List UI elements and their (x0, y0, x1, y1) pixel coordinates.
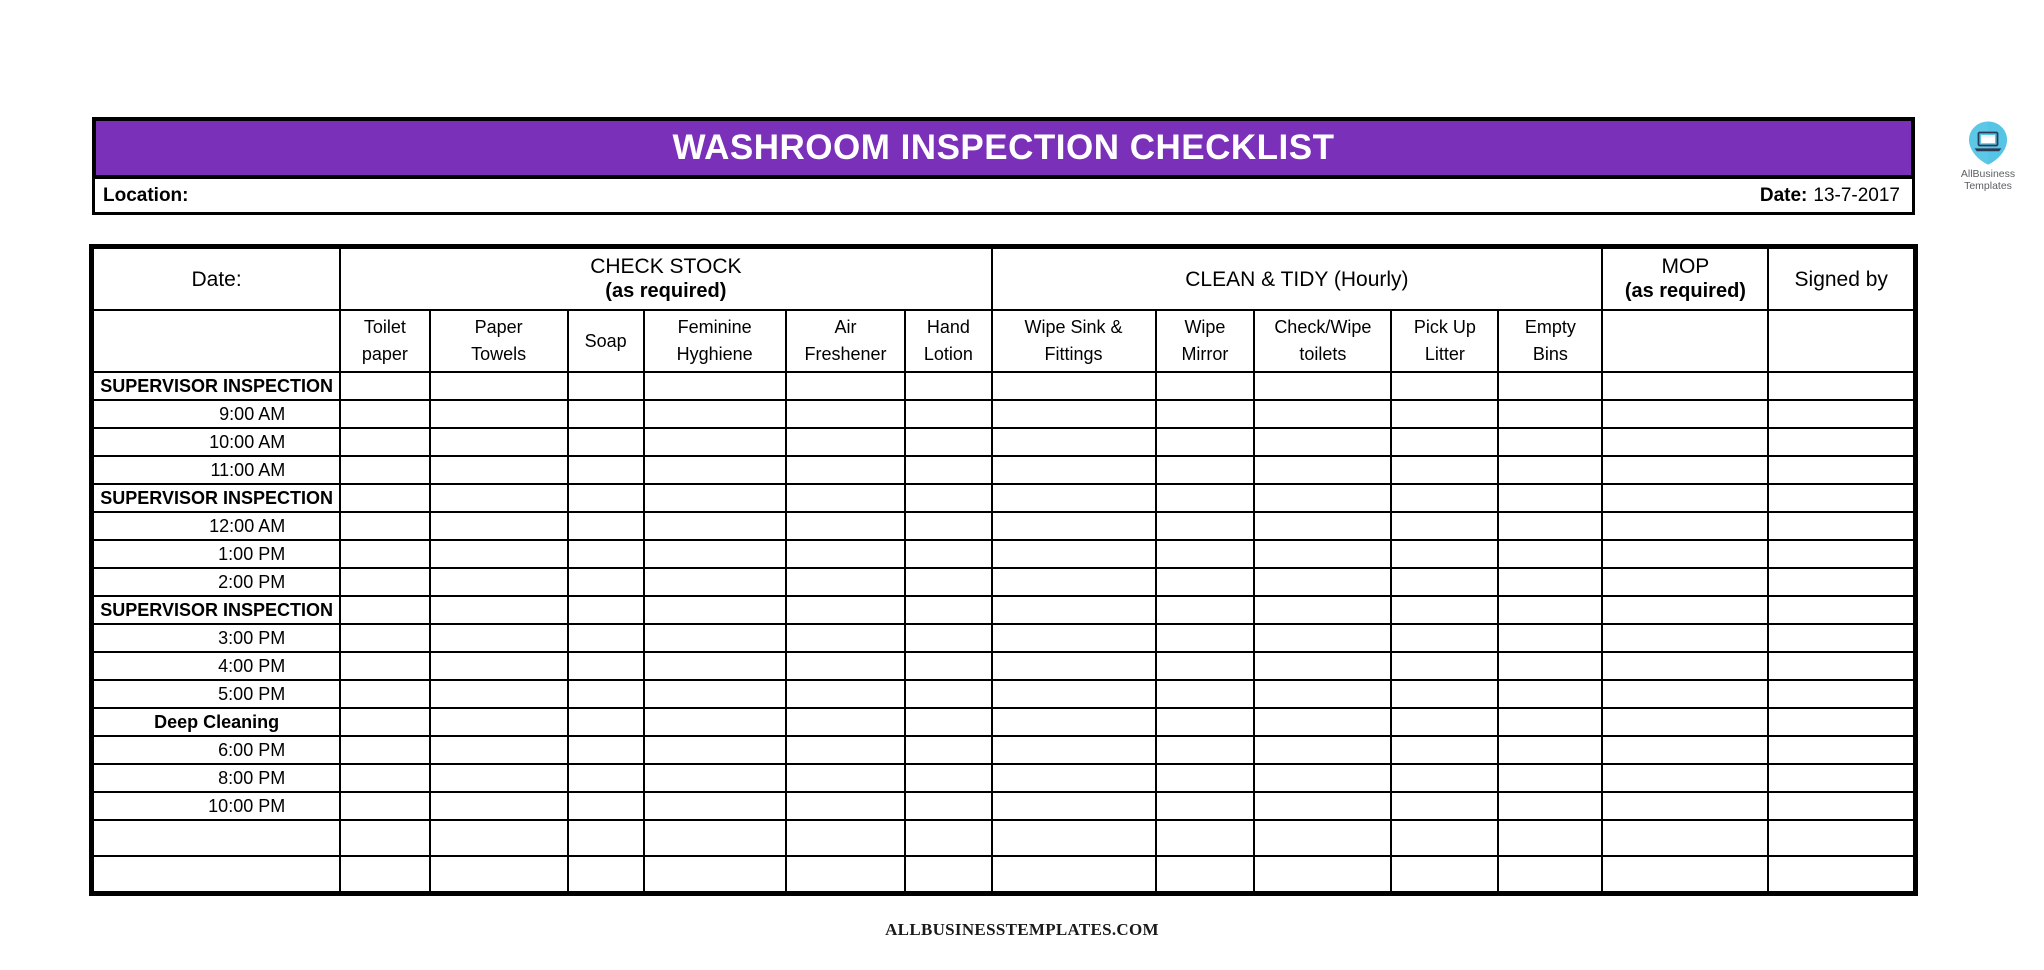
checklist-cell[interactable] (340, 792, 429, 820)
checklist-cell[interactable] (340, 512, 429, 540)
checklist-cell[interactable] (905, 680, 991, 708)
checklist-cell[interactable] (340, 736, 429, 764)
checklist-cell[interactable] (1498, 856, 1602, 892)
checklist-cell[interactable] (1156, 484, 1255, 512)
checklist-cell[interactable] (992, 428, 1156, 456)
checklist-cell[interactable] (1156, 736, 1255, 764)
checklist-cell[interactable] (1498, 568, 1602, 596)
checklist-cell[interactable] (644, 400, 786, 428)
checklist-cell[interactable] (1254, 400, 1391, 428)
checklist-cell[interactable] (644, 568, 786, 596)
checklist-cell[interactable] (1254, 764, 1391, 792)
checklist-cell[interactable] (568, 736, 644, 764)
checklist-cell[interactable] (1254, 456, 1391, 484)
column-header-signed-by (1768, 310, 1914, 372)
checklist-cell[interactable] (430, 428, 568, 456)
checklist-cell[interactable] (905, 856, 991, 892)
checklist-cell[interactable] (1156, 820, 1255, 856)
checklist-cell[interactable] (905, 372, 991, 400)
checklist-cell[interactable] (905, 708, 991, 736)
checklist-cell[interactable] (1498, 764, 1602, 792)
checklist-cell[interactable] (568, 428, 644, 456)
checklist-cell[interactable] (1254, 372, 1391, 400)
table-row: 5:00 PM (93, 680, 1914, 708)
checklist-cell[interactable] (1602, 764, 1768, 792)
checklist-cell[interactable] (786, 792, 905, 820)
checklist-cell[interactable] (1391, 372, 1498, 400)
checklist-cell[interactable] (1498, 400, 1602, 428)
checklist-cell[interactable] (992, 708, 1156, 736)
checklist-cell[interactable] (1156, 792, 1255, 820)
checklist-cell[interactable] (1498, 792, 1602, 820)
table-head: Date: CHECK STOCK (as required) CLEAN & … (93, 248, 1914, 372)
checklist-cell[interactable] (1391, 764, 1498, 792)
checklist-cell[interactable] (1498, 820, 1602, 856)
checklist-cell[interactable] (1391, 708, 1498, 736)
checklist-cell[interactable] (340, 484, 429, 512)
checklist-cell[interactable] (430, 456, 568, 484)
table-row: SUPERVISOR INSPECTION (93, 596, 1914, 624)
checklist-cell[interactable] (340, 540, 429, 568)
checklist-cell[interactable] (430, 764, 568, 792)
checklist-cell[interactable] (340, 372, 429, 400)
logo-line-2: Templates (1964, 180, 2012, 192)
checklist-cell[interactable] (568, 820, 644, 856)
checklist-cell[interactable] (430, 736, 568, 764)
column-header-paper-towels-line1: Paper (475, 317, 523, 337)
checklist-cell[interactable] (1768, 856, 1914, 892)
checklist-cell[interactable] (430, 400, 568, 428)
column-header-hand-lotion-line1: Hand (927, 317, 970, 337)
checklist-cell[interactable] (1156, 540, 1255, 568)
checklist-cell[interactable] (1156, 680, 1255, 708)
checklist-cell[interactable] (1768, 484, 1914, 512)
checklist-cell[interactable] (1602, 428, 1768, 456)
checklist-cell[interactable] (786, 680, 905, 708)
checklist-cell[interactable] (1391, 540, 1498, 568)
checklist-cell[interactable] (1602, 708, 1768, 736)
checklist-cell[interactable] (1768, 540, 1914, 568)
checklist-cell[interactable] (430, 792, 568, 820)
checklist-cell[interactable] (1602, 540, 1768, 568)
checklist-cell[interactable] (992, 624, 1156, 652)
group-header-clean-tidy-label: CLEAN & TIDY (Hourly) (1185, 268, 1408, 291)
checklist-cell[interactable] (1391, 856, 1498, 892)
checklist-cell[interactable] (430, 856, 568, 892)
column-header-empty-bins-line2: Bins (1499, 341, 1601, 368)
checklist-cell[interactable] (644, 596, 786, 624)
checklist-cell[interactable] (905, 736, 991, 764)
checklist-cell[interactable] (1391, 428, 1498, 456)
checklist-cell[interactable] (1602, 596, 1768, 624)
checklist-cell[interactable] (992, 400, 1156, 428)
checklist-cell[interactable] (568, 456, 644, 484)
checklist-cell[interactable] (568, 512, 644, 540)
checklist-cell[interactable] (1391, 512, 1498, 540)
column-header-paper-towels: Paper Towels (430, 310, 568, 372)
group-header-mop-label: MOP (1661, 255, 1709, 278)
checklist-cell[interactable] (1768, 624, 1914, 652)
checklist-cell[interactable] (1602, 400, 1768, 428)
column-header-rowlabel (93, 310, 340, 372)
checklist-cell[interactable] (905, 540, 991, 568)
row-section-label: SUPERVISOR INSPECTION (93, 372, 340, 400)
checklist-cell[interactable] (1602, 372, 1768, 400)
checklist-cell[interactable] (786, 820, 905, 856)
checklist-cell[interactable] (992, 568, 1156, 596)
checklist-cell[interactable] (786, 652, 905, 680)
checklist-cell[interactable] (1498, 624, 1602, 652)
checklist-cell[interactable] (1254, 624, 1391, 652)
row-time-label: 11:00 AM (93, 456, 340, 484)
checklist-cell[interactable] (905, 820, 991, 856)
checklist-cell[interactable] (1156, 456, 1255, 484)
checklist-cell[interactable] (644, 372, 786, 400)
checklist-cell[interactable] (644, 624, 786, 652)
checklist-cell[interactable] (568, 856, 644, 892)
checklist-cell[interactable] (992, 652, 1156, 680)
checklist-cell[interactable] (430, 484, 568, 512)
footer-site-text: ALLBUSINESSTEMPLATES.COM (885, 920, 1159, 939)
checklist-cell[interactable] (1254, 512, 1391, 540)
checklist-cell[interactable] (992, 540, 1156, 568)
checklist-table: Date: CHECK STOCK (as required) CLEAN & … (92, 247, 1915, 893)
checklist-cell[interactable] (1602, 820, 1768, 856)
checklist-cell[interactable] (568, 568, 644, 596)
checklist-cell[interactable] (905, 596, 991, 624)
checklist-cell[interactable] (568, 764, 644, 792)
checklist-cell[interactable] (340, 428, 429, 456)
checklist-cell[interactable] (1768, 456, 1914, 484)
column-header-feminine-hygiene: Feminine Hyghiene (644, 310, 786, 372)
checklist-cell[interactable] (1391, 680, 1498, 708)
checklist-cell[interactable] (1498, 456, 1602, 484)
checklist-cell[interactable] (340, 856, 429, 892)
checklist-cell[interactable] (644, 708, 786, 736)
checklist-cell[interactable] (430, 596, 568, 624)
checklist-cell[interactable] (905, 400, 991, 428)
checklist-cell[interactable] (1156, 708, 1255, 736)
checklist-cell[interactable] (568, 708, 644, 736)
checklist-cell[interactable] (568, 484, 644, 512)
group-header-mop-sublabel: (as required) (1603, 279, 1767, 304)
checklist-cell[interactable] (992, 484, 1156, 512)
checklist-cell[interactable] (786, 456, 905, 484)
checklist-cell[interactable] (430, 540, 568, 568)
checklist-cell[interactable] (1254, 596, 1391, 624)
checklist-cell[interactable] (430, 680, 568, 708)
checklist-cell[interactable] (1391, 456, 1498, 484)
checklist-cell[interactable] (992, 596, 1156, 624)
group-header-clean-tidy: CLEAN & TIDY (Hourly) (992, 248, 1603, 310)
checklist-cell[interactable] (644, 652, 786, 680)
checklist-cell[interactable] (644, 856, 786, 892)
checklist-cell[interactable] (340, 624, 429, 652)
checklist-cell[interactable] (340, 652, 429, 680)
column-header-toilet-paper-line2: paper (341, 341, 428, 368)
checklist-cell[interactable] (1156, 856, 1255, 892)
row-time-label: 4:00 PM (93, 652, 340, 680)
column-header-check-wipe-toilets: Check/Wipe toilets (1254, 310, 1391, 372)
checklist-cell[interactable] (992, 736, 1156, 764)
checklist-cell[interactable] (340, 456, 429, 484)
group-header-mop: MOP (as required) (1602, 248, 1768, 310)
checklist-cell[interactable] (1391, 792, 1498, 820)
checklist-cell[interactable] (992, 856, 1156, 892)
checklist-cell[interactable] (1156, 372, 1255, 400)
checklist-cell[interactable] (1602, 624, 1768, 652)
checklist-cell[interactable] (786, 400, 905, 428)
checklist-cell[interactable] (644, 512, 786, 540)
row-time-label (93, 856, 340, 892)
allbusiness-templates-logo: AllBusiness Templates (1952, 120, 2024, 192)
checklist-cell[interactable] (786, 624, 905, 652)
group-header-signed-by: Signed by (1768, 248, 1914, 310)
table-row: 6:00 PM (93, 736, 1914, 764)
table-row: 10:00 AM (93, 428, 1914, 456)
checklist-cell[interactable] (1156, 764, 1255, 792)
row-time-label: 6:00 PM (93, 736, 340, 764)
location-date-row: Location: Date:13-7-2017 (92, 179, 1915, 215)
column-header-wipe-mirror: Wipe Mirror (1156, 310, 1255, 372)
checklist-cell[interactable] (1391, 400, 1498, 428)
table-row: SUPERVISOR INSPECTION (93, 484, 1914, 512)
checklist-cell[interactable] (1602, 512, 1768, 540)
checklist-cell[interactable] (1254, 736, 1391, 764)
checklist-cell[interactable] (786, 596, 905, 624)
location-label: Location: (103, 185, 189, 207)
checklist-cell[interactable] (992, 372, 1156, 400)
checklist-cell[interactable] (905, 484, 991, 512)
checklist-cell[interactable] (1602, 792, 1768, 820)
checklist-cell[interactable] (786, 372, 905, 400)
checklist-cell[interactable] (786, 764, 905, 792)
checklist-cell[interactable] (1391, 568, 1498, 596)
checklist-cell[interactable] (786, 568, 905, 596)
checklist-cell[interactable] (1498, 596, 1602, 624)
checklist-cell[interactable] (905, 764, 991, 792)
checklist-cell[interactable] (1768, 372, 1914, 400)
checklist-cell[interactable] (340, 820, 429, 856)
checklist-cell[interactable] (568, 596, 644, 624)
checklist-cell[interactable] (430, 372, 568, 400)
checklist-cell[interactable] (1391, 596, 1498, 624)
checklist-cell[interactable] (644, 680, 786, 708)
checklist-cell[interactable] (1156, 624, 1255, 652)
header-date-label: Date: (1760, 185, 1808, 206)
checklist-cell[interactable] (1768, 820, 1914, 856)
checklist-cell[interactable] (644, 736, 786, 764)
checklist-cell[interactable] (905, 652, 991, 680)
checklist-cell[interactable] (1391, 736, 1498, 764)
checklist-cell[interactable] (1602, 736, 1768, 764)
checklist-cell[interactable] (905, 456, 991, 484)
row-time-label: 9:00 AM (93, 400, 340, 428)
column-header-mop (1602, 310, 1768, 372)
checklist-cell[interactable] (992, 764, 1156, 792)
checklist-cell[interactable] (992, 512, 1156, 540)
checklist-cell[interactable] (1254, 652, 1391, 680)
group-header-date-label: Date: (192, 268, 242, 291)
checklist-cell[interactable] (1156, 568, 1255, 596)
checklist-cell[interactable] (1768, 568, 1914, 596)
checklist-cell[interactable] (568, 680, 644, 708)
column-header-paper-towels-line2: Towels (431, 341, 567, 368)
checklist-cell[interactable] (1254, 708, 1391, 736)
checklist-cell[interactable] (1498, 372, 1602, 400)
checklist-cell[interactable] (786, 856, 905, 892)
column-header-wipe-sink-fittings-line1: Wipe Sink & (1025, 317, 1123, 337)
logo-wordmark: AllBusiness Templates (1952, 168, 2024, 192)
checklist-cell[interactable] (568, 792, 644, 820)
checklist-cell[interactable] (1768, 512, 1914, 540)
checklist-cell[interactable] (1498, 708, 1602, 736)
checklist-cell[interactable] (1498, 680, 1602, 708)
column-header-toilet-paper: Toilet paper (340, 310, 429, 372)
checklist-cell[interactable] (1391, 652, 1498, 680)
group-header-check-stock: CHECK STOCK (as required) (340, 248, 991, 310)
checklist-cell[interactable] (1254, 568, 1391, 596)
column-header-pick-up-litter: Pick Up Litter (1391, 310, 1498, 372)
checklist-cell[interactable] (1156, 512, 1255, 540)
checklist-cell[interactable] (786, 484, 905, 512)
checklist-cell[interactable] (992, 792, 1156, 820)
checklist-cell[interactable] (1602, 456, 1768, 484)
checklist-cell[interactable] (1254, 540, 1391, 568)
checklist-cell[interactable] (430, 820, 568, 856)
checklist-cell[interactable] (430, 624, 568, 652)
checklist-cell[interactable] (1254, 792, 1391, 820)
checklist-cell[interactable] (1768, 428, 1914, 456)
checklist-cell[interactable] (1602, 856, 1768, 892)
column-header-check-wipe-toilets-line1: Check/Wipe (1274, 317, 1371, 337)
checklist-cell[interactable] (430, 708, 568, 736)
checklist-cell[interactable] (340, 680, 429, 708)
checklist-cell[interactable] (340, 568, 429, 596)
checklist-cell[interactable] (1498, 736, 1602, 764)
checklist-cell[interactable] (644, 540, 786, 568)
group-header-date: Date: (93, 248, 340, 310)
checklist-cell[interactable] (905, 624, 991, 652)
checklist-cell[interactable] (1254, 484, 1391, 512)
column-header-feminine-hygiene-line2: Hyghiene (645, 341, 785, 368)
checklist-cell[interactable] (1498, 540, 1602, 568)
checklist-cell[interactable] (1391, 624, 1498, 652)
checklist-cell[interactable] (1254, 820, 1391, 856)
column-header-hand-lotion-line2: Lotion (906, 341, 990, 368)
checklist-cell[interactable] (430, 652, 568, 680)
checklist-cell[interactable] (1768, 792, 1914, 820)
checklist-cell[interactable] (786, 540, 905, 568)
checklist-cell[interactable] (1156, 596, 1255, 624)
checklist-cell[interactable] (1768, 680, 1914, 708)
column-header-empty-bins-line1: Empty (1525, 317, 1576, 337)
checklist-cell[interactable] (568, 400, 644, 428)
checklist-cell[interactable] (786, 512, 905, 540)
checklist-cell[interactable] (340, 596, 429, 624)
checklist-cell[interactable] (1498, 652, 1602, 680)
checklist-cell[interactable] (905, 792, 991, 820)
checklist-cell[interactable] (1602, 568, 1768, 596)
checklist-cell[interactable] (786, 708, 905, 736)
checklist-cell[interactable] (1156, 652, 1255, 680)
checklist-cell[interactable] (1254, 680, 1391, 708)
checklist-cell[interactable] (644, 820, 786, 856)
checklist-cell[interactable] (905, 568, 991, 596)
checklist-cell[interactable] (1498, 428, 1602, 456)
column-header-row: Toilet paper Paper Towels Soap Feminine … (93, 310, 1914, 372)
checklist-cell[interactable] (1768, 652, 1914, 680)
checklist-cell[interactable] (568, 372, 644, 400)
checklist-cell[interactable] (905, 428, 991, 456)
checklist-cell[interactable] (430, 568, 568, 596)
checklist-cell[interactable] (430, 512, 568, 540)
table-row: 8:00 PM (93, 764, 1914, 792)
checklist-cell[interactable] (340, 764, 429, 792)
checklist-cell[interactable] (568, 540, 644, 568)
row-time-label: 10:00 AM (93, 428, 340, 456)
checklist-cell[interactable] (1498, 484, 1602, 512)
group-header-row: Date: CHECK STOCK (as required) CLEAN & … (93, 248, 1914, 310)
header-date-value: 13-7-2017 (1813, 185, 1900, 206)
checklist-cell[interactable] (992, 820, 1156, 856)
table-row: 12:00 AM (93, 512, 1914, 540)
column-header-pick-up-litter-line1: Pick Up (1414, 317, 1476, 337)
checklist-cell[interactable] (1254, 856, 1391, 892)
column-header-feminine-hygiene-line1: Feminine (678, 317, 752, 337)
checklist-cell[interactable] (340, 400, 429, 428)
checklist-cell[interactable] (644, 428, 786, 456)
checklist-cell[interactable] (786, 428, 905, 456)
checklist-cell[interactable] (992, 680, 1156, 708)
table-row: 11:00 AM (93, 456, 1914, 484)
checklist-cell[interactable] (340, 708, 429, 736)
checklist-cell[interactable] (568, 624, 644, 652)
checklist-cell[interactable] (644, 792, 786, 820)
checklist-cell[interactable] (1768, 708, 1914, 736)
checklist-cell[interactable] (1602, 680, 1768, 708)
checklist-cell[interactable] (1602, 484, 1768, 512)
row-time-label: 10:00 PM (93, 792, 340, 820)
row-time-label: 1:00 PM (93, 540, 340, 568)
column-header-hand-lotion: Hand Lotion (905, 310, 991, 372)
checklist-cell[interactable] (905, 512, 991, 540)
column-header-wipe-mirror-line2: Mirror (1157, 341, 1254, 368)
checklist-cell[interactable] (1156, 400, 1255, 428)
checklist-cell[interactable] (1254, 428, 1391, 456)
checklist-cell[interactable] (1391, 484, 1498, 512)
checklist-cell[interactable] (644, 484, 786, 512)
checklist-cell[interactable] (568, 652, 644, 680)
checklist-cell[interactable] (1156, 428, 1255, 456)
checklist-cell[interactable] (644, 764, 786, 792)
checklist-cell[interactable] (1498, 512, 1602, 540)
checklist-cell[interactable] (1768, 596, 1914, 624)
checklist-cell[interactable] (786, 736, 905, 764)
row-time-label (93, 820, 340, 856)
checklist-cell[interactable] (1602, 652, 1768, 680)
checklist-cell[interactable] (1768, 764, 1914, 792)
checklist-cell[interactable] (1768, 736, 1914, 764)
table-row: 9:00 AM (93, 400, 1914, 428)
table-row: 1:00 PM (93, 540, 1914, 568)
column-header-wipe-sink-fittings: Wipe Sink & Fittings (992, 310, 1156, 372)
checklist-cell[interactable] (992, 456, 1156, 484)
table-row (93, 856, 1914, 892)
checklist-cell[interactable] (1768, 400, 1914, 428)
checklist-cell[interactable] (644, 456, 786, 484)
checklist-cell[interactable] (1391, 820, 1498, 856)
